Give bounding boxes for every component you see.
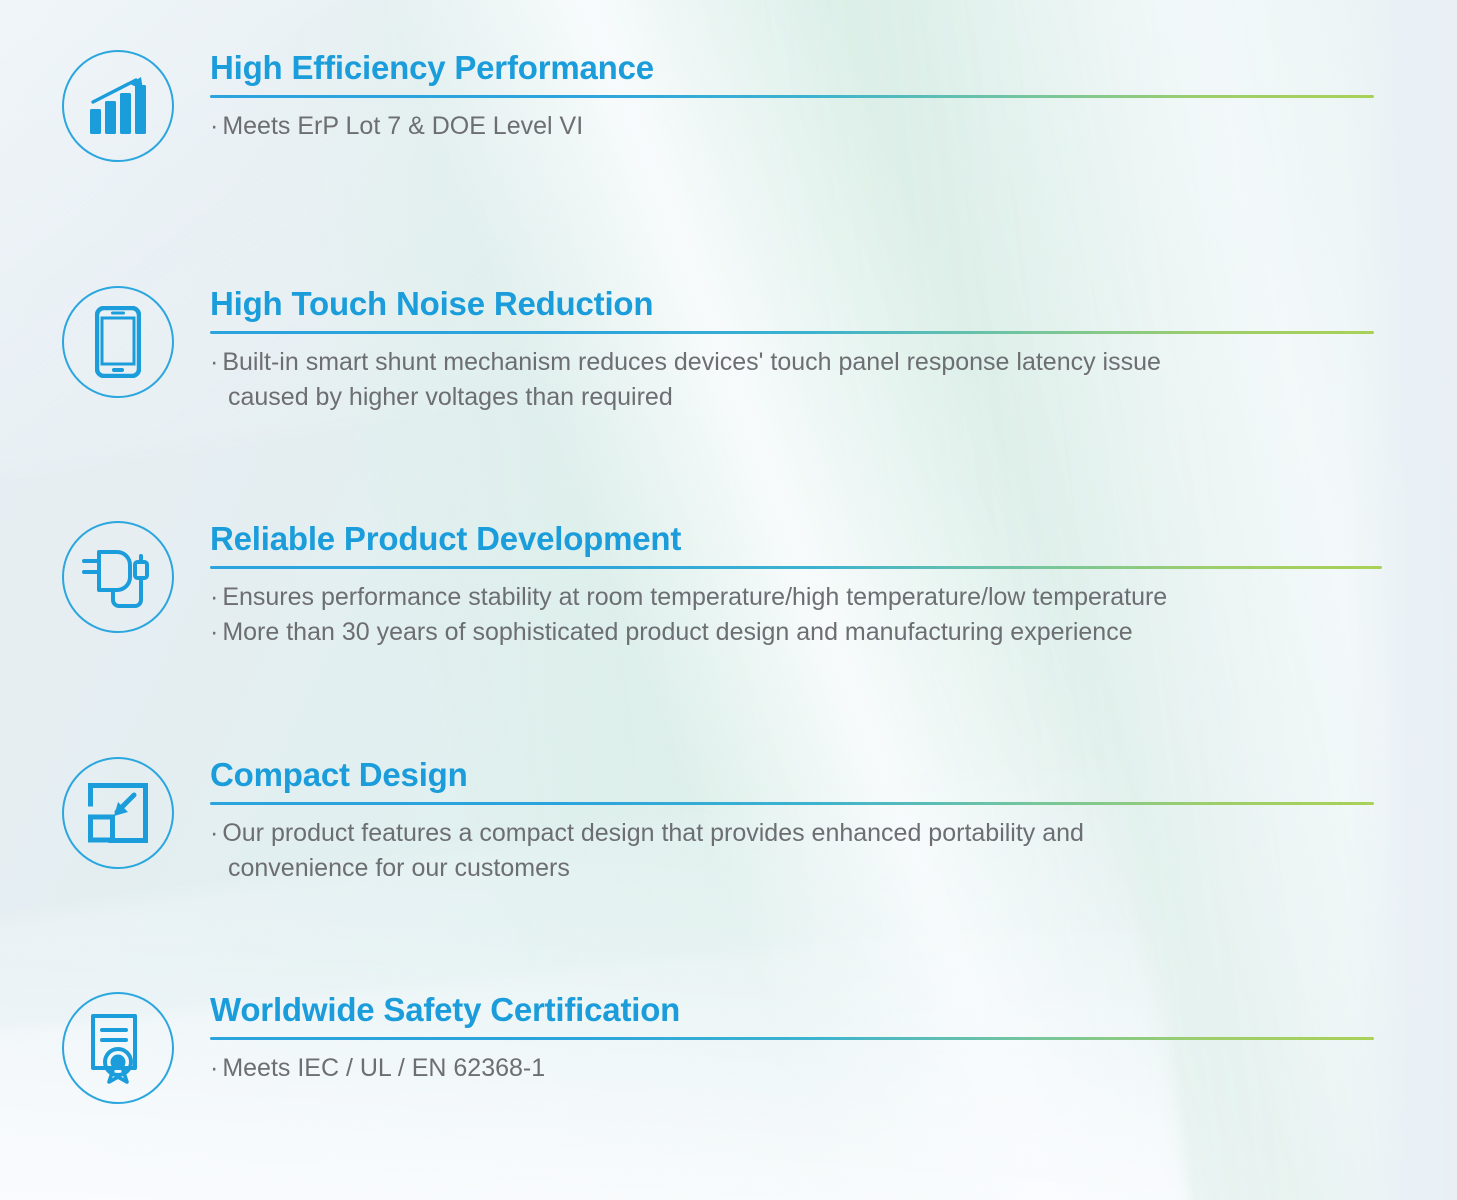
feature-title: Worldwide Safety Certification: [210, 992, 1376, 1028]
feature-divider: [210, 802, 1374, 805]
icon-circle-frame: [62, 286, 174, 398]
smartphone-icon: [95, 306, 141, 378]
feature-description-line: ·Built-in smart shunt mechanism reduces …: [210, 345, 1376, 381]
bullet-marker: ·: [210, 583, 218, 611]
bullet-marker: ·: [210, 112, 218, 140]
feature-icon-container: [56, 50, 180, 162]
feature-item-high-touch-noise-reduction: High Touch Noise Reduction ·Built-in sma…: [56, 286, 1376, 416]
feature-description-text: Meets ErP Lot 7 & DOE Level VI: [222, 112, 583, 140]
feature-title: High Efficiency Performance: [210, 50, 1376, 86]
bar-chart-growth-icon: [87, 76, 149, 136]
feature-text-block: Reliable Product Development ·Ensures pe…: [180, 521, 1386, 651]
feature-text-block: High Touch Noise Reduction ·Built-in sma…: [180, 286, 1376, 416]
bullet-marker-2: ·: [210, 618, 218, 646]
bullet-marker: ·: [210, 819, 218, 847]
feature-description-line: ·Meets ErP Lot 7 & DOE Level VI: [210, 109, 1376, 145]
feature-text-block: Worldwide Safety Certification ·Meets IE…: [180, 992, 1376, 1086]
icon-circle-frame: [62, 50, 174, 162]
certificate-seal-icon: [87, 1012, 149, 1084]
feature-description-text: Ensures performance stability at room te…: [222, 583, 1167, 611]
feature-icon-container: [56, 757, 180, 869]
compact-resize-icon: [87, 782, 149, 844]
feature-description-line: ·Ensures performance stability at room t…: [210, 580, 1386, 616]
feature-icon-container: [56, 286, 180, 398]
feature-description-line-2: convenience for our customers: [210, 851, 1376, 887]
bullet-marker: ·: [210, 1054, 218, 1082]
feature-description-text: Built-in smart shunt mechanism reduces d…: [222, 348, 1161, 376]
feature-text-block: Compact Design ·Our product features a c…: [180, 757, 1376, 887]
feature-description-line: ·Our product features a compact design t…: [210, 816, 1376, 852]
feature-title: Compact Design: [210, 757, 1376, 793]
feature-description-line-2: caused by higher voltages than required: [210, 380, 1376, 416]
feature-divider: [210, 1037, 1374, 1040]
feature-description-text: Meets IEC / UL / EN 62368-1: [222, 1054, 545, 1082]
feature-item-reliable-product-development: Reliable Product Development ·Ensures pe…: [56, 521, 1386, 651]
feature-title: High Touch Noise Reduction: [210, 286, 1376, 322]
feature-list-page: High Efficiency Performance ·Meets ErP L…: [0, 0, 1457, 1200]
feature-description-text: Our product features a compact design th…: [222, 819, 1084, 847]
feature-description-line: ·Meets IEC / UL / EN 62368-1: [210, 1051, 1376, 1087]
feature-text-block: High Efficiency Performance ·Meets ErP L…: [180, 50, 1376, 144]
bullet-marker: ·: [210, 348, 218, 376]
icon-circle-frame: [62, 521, 174, 633]
feature-item-worldwide-safety-certification: Worldwide Safety Certification ·Meets IE…: [56, 992, 1376, 1104]
feature-description-line-2: ·More than 30 years of sophisticated pro…: [210, 615, 1386, 651]
feature-description-text-2: More than 30 years of sophisticated prod…: [222, 618, 1132, 646]
feature-divider: [210, 566, 1382, 569]
feature-item-compact-design: Compact Design ·Our product features a c…: [56, 757, 1376, 887]
feature-divider: [210, 331, 1374, 334]
power-adapter-icon: [79, 542, 157, 612]
icon-circle-frame: [62, 992, 174, 1104]
feature-icon-container: [56, 992, 180, 1104]
feature-icon-container: [56, 521, 180, 633]
feature-divider: [210, 95, 1374, 98]
icon-circle-frame: [62, 757, 174, 869]
feature-title: Reliable Product Development: [210, 521, 1386, 557]
feature-item-high-efficiency-performance: High Efficiency Performance ·Meets ErP L…: [56, 50, 1376, 162]
